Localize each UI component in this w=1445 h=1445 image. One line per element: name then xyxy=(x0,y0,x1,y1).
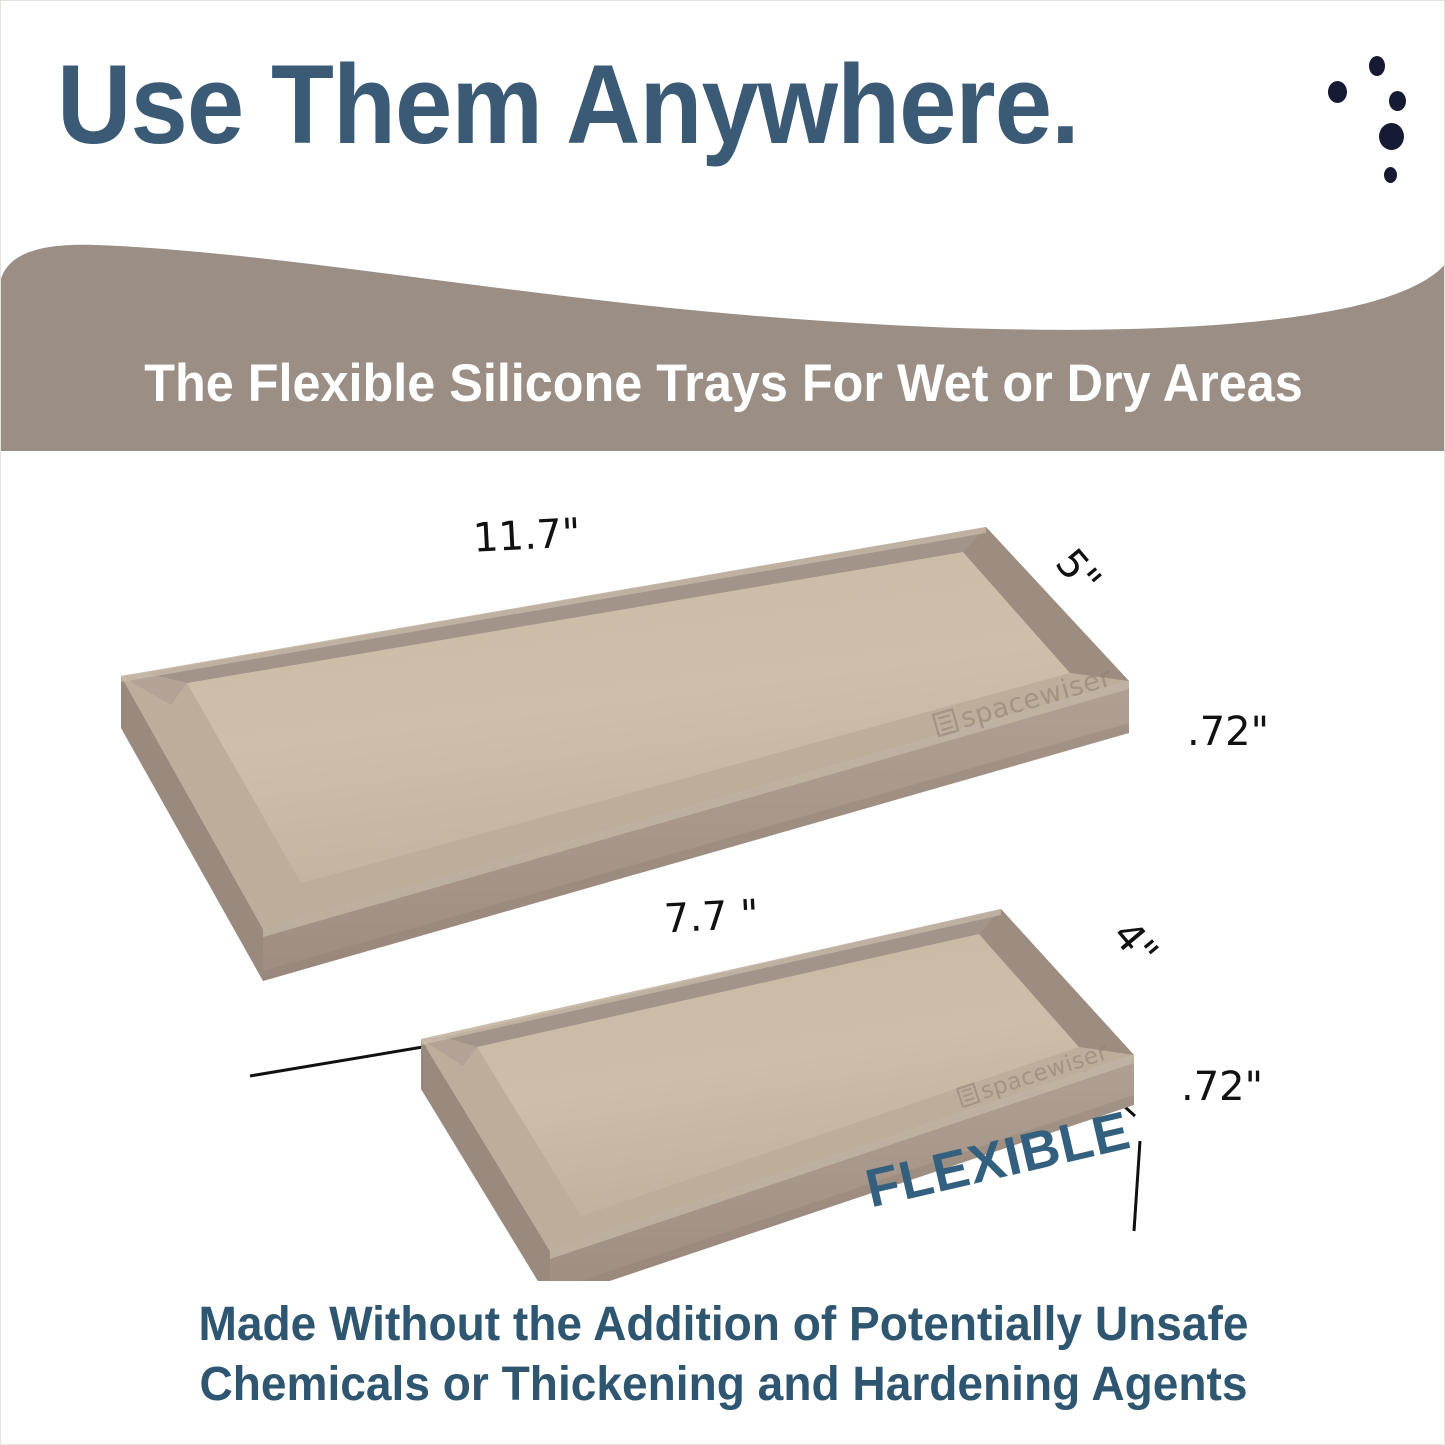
banner-title: The Flexible Silicone Trays For Wet or D… xyxy=(37,219,1410,451)
product-illustration: spacewiser xyxy=(1,451,1445,1281)
decorative-dot-icon xyxy=(1369,56,1385,76)
large-tray-length-label: 11.7" xyxy=(472,510,582,562)
infographic-page: Use Them Anywhere. The Flexible Silicone… xyxy=(0,0,1445,1445)
subtitle-banner: The Flexible Silicone Trays For Wet or D… xyxy=(1,219,1445,451)
page-title: Use Them Anywhere. xyxy=(57,49,1079,161)
footer-claim: Made Without the Addition of Potentially… xyxy=(30,1295,1417,1414)
large-tray-height-label: .72" xyxy=(1187,709,1269,755)
trays-svg: spacewiser xyxy=(1,451,1445,1281)
small-tray-length-label: 7.7 " xyxy=(663,892,760,943)
decorative-dot-icon xyxy=(1379,123,1404,150)
decorative-dot-icon xyxy=(1328,81,1347,103)
decorative-dot-icon xyxy=(1384,167,1397,183)
decorative-dot-icon xyxy=(1389,91,1406,111)
small-tray-height-label: .72" xyxy=(1181,1064,1263,1110)
small-tray-graphic: spacewiser xyxy=(421,909,1159,1281)
footer-line-1: Made Without the Addition of Potentially… xyxy=(30,1295,1417,1355)
footer-line-2: Chemicals or Thickening and Hardening Ag… xyxy=(30,1355,1417,1415)
